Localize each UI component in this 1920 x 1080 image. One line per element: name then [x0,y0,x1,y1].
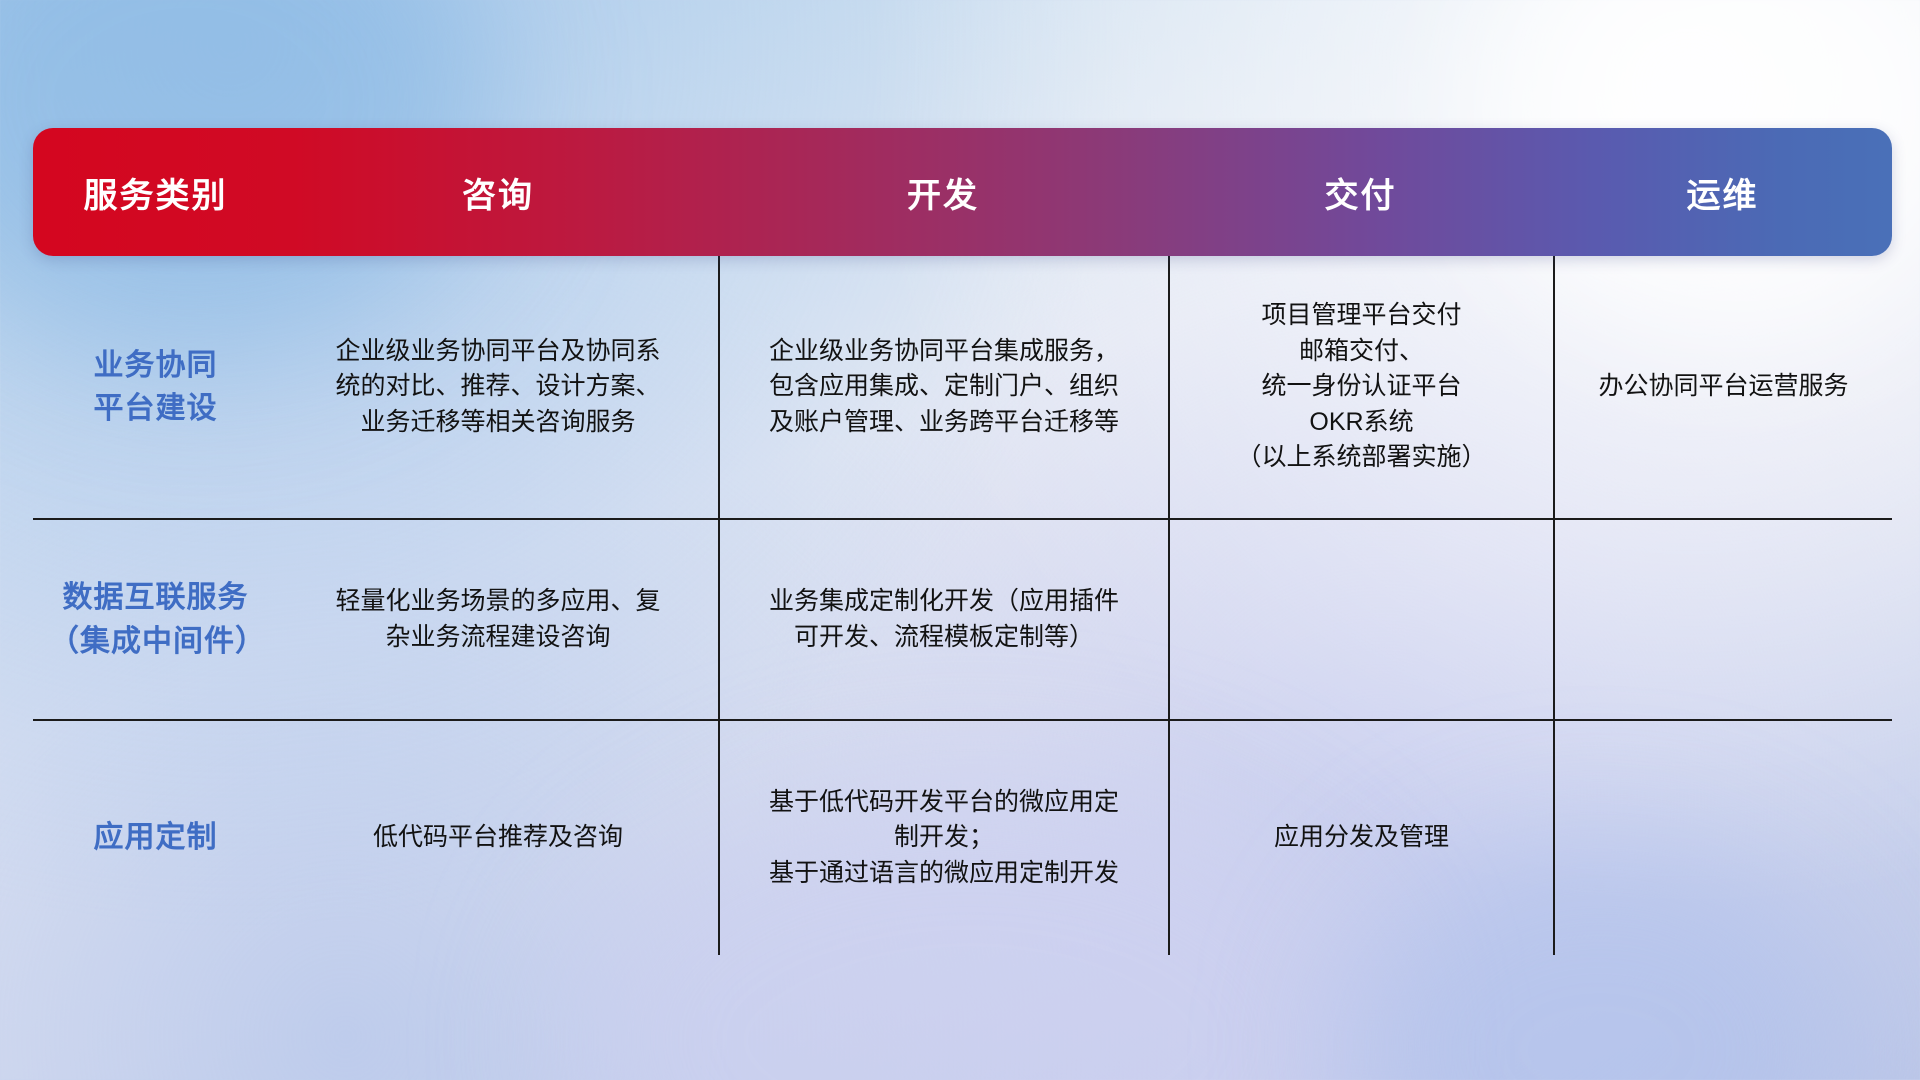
column-header-delivery: 交付 [1168,168,1553,217]
cell-operations-1: 办公协同平台运营服务 [1553,256,1892,518]
cell-category-3: 应用定制 [33,721,278,955]
table-row: 应用定制 低代码平台推荐及咨询 基于低代码开发平台的微应用定 制开发； 基于通过… [33,719,1892,955]
table-header-row: 服务类别 咨询 开发 交付 运维 [33,128,1892,256]
column-header-development: 开发 [718,168,1168,217]
table-row: 业务协同 平台建设 企业级业务协同平台及协同系 统的对比、推荐、设计方案、 业务… [33,256,1892,518]
cell-operations-2 [1553,520,1892,719]
cell-development-2: 业务集成定制化开发（应用插件 可开发、流程模板定制等） [718,520,1168,719]
cell-development-3: 基于低代码开发平台的微应用定 制开发； 基于通过语言的微应用定制开发 [718,721,1168,955]
cell-consulting-3: 低代码平台推荐及咨询 [278,721,718,955]
cell-delivery-3: 应用分发及管理 [1168,721,1553,955]
cell-category-2: 数据互联服务 （集成中间件） [33,520,278,719]
service-category-table: 服务类别 咨询 开发 交付 运维 业务协同 平台建设 企业级业务协同平台及协同系… [33,128,1892,955]
cell-consulting-1: 企业级业务协同平台及协同系 统的对比、推荐、设计方案、 业务迁移等相关咨询服务 [278,256,718,518]
table-body: 业务协同 平台建设 企业级业务协同平台及协同系 统的对比、推荐、设计方案、 业务… [33,256,1892,955]
cell-delivery-2 [1168,520,1553,719]
column-header-operations: 运维 [1553,168,1892,217]
cell-delivery-1: 项目管理平台交付 邮箱交付、 统一身份认证平台 OKR系统 （以上系统部署实施） [1168,256,1553,518]
cell-development-1: 企业级业务协同平台集成服务， 包含应用集成、定制门户、组织 及账户管理、业务跨平… [718,256,1168,518]
table-row: 数据互联服务 （集成中间件） 轻量化业务场景的多应用、复 杂业务流程建设咨询 业… [33,518,1892,719]
cell-operations-3 [1553,721,1892,955]
column-header-category: 服务类别 [33,168,278,217]
cell-consulting-2: 轻量化业务场景的多应用、复 杂业务流程建设咨询 [278,520,718,719]
column-header-consulting: 咨询 [278,168,718,217]
cell-category-1: 业务协同 平台建设 [33,256,278,518]
